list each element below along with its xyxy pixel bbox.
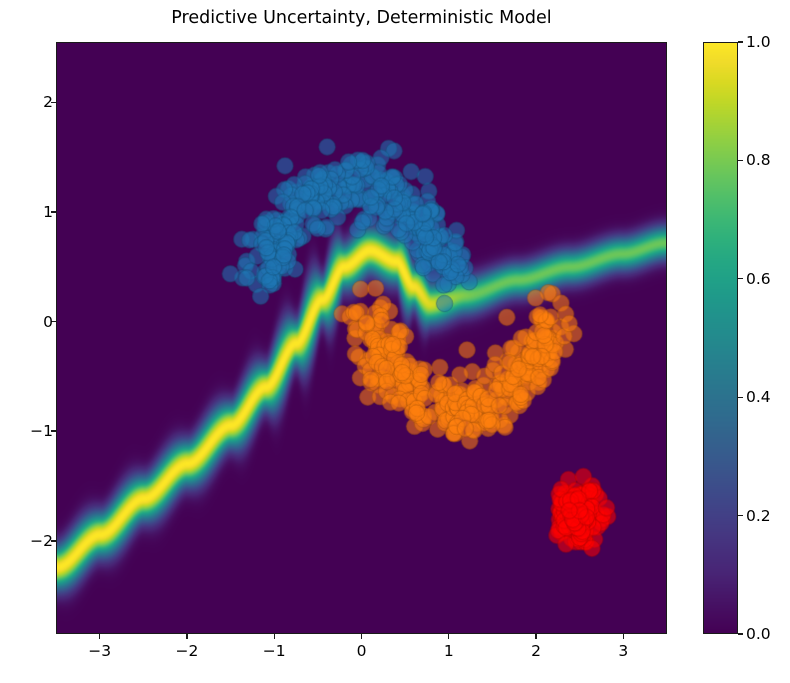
colorbar-tick-label: 1.0 [746, 32, 771, 52]
x-axis-tick-label: 1 [419, 641, 479, 661]
colorbar-tick-label: 0.6 [746, 269, 771, 289]
colorbar-tick-label: 0.8 [746, 150, 771, 170]
x-axis-tick-label: −2 [157, 641, 217, 661]
x-axis-tick [274, 634, 275, 639]
x-axis-tick-label: −1 [244, 641, 304, 661]
x-axis-tick [448, 634, 449, 639]
x-axis-tick-label: 0 [332, 641, 392, 661]
colorbar-tick [738, 160, 743, 161]
colorbar-tick-label: 0.2 [746, 506, 771, 526]
colorbar-tick-label: 0.0 [746, 624, 771, 644]
scatter-points-layer [57, 43, 666, 633]
x-axis-tick [99, 634, 100, 639]
x-axis-tick [535, 634, 536, 639]
colorbar-gradient [704, 43, 737, 633]
x-axis-tick-label: 3 [593, 641, 653, 661]
x-axis-tick-label: 2 [506, 641, 566, 661]
colorbar-tick [738, 278, 743, 279]
y-axis-tick-label: 1 [0, 202, 53, 222]
page-title: Predictive Uncertainty, Deterministic Mo… [56, 6, 667, 30]
colorbar [703, 42, 738, 634]
colorbar-tick-label: 0.4 [746, 387, 771, 407]
figure-canvas: Predictive Uncertainty, Deterministic Mo… [0, 0, 790, 683]
y-axis-tick-label: −1 [0, 421, 53, 441]
y-axis-tick-label: 0 [0, 312, 53, 332]
y-axis-tick-label: −2 [0, 531, 53, 551]
y-axis-tick-label: 2 [0, 92, 53, 112]
colorbar-tick [738, 633, 743, 634]
colorbar-tick [738, 397, 743, 398]
x-axis-tick [361, 634, 362, 639]
x-axis-tick [623, 634, 624, 639]
colorbar-tick [738, 41, 743, 42]
x-axis-tick-label: −3 [70, 641, 130, 661]
colorbar-tick [738, 515, 743, 516]
x-axis-tick [186, 634, 187, 639]
plot-area [56, 42, 667, 634]
